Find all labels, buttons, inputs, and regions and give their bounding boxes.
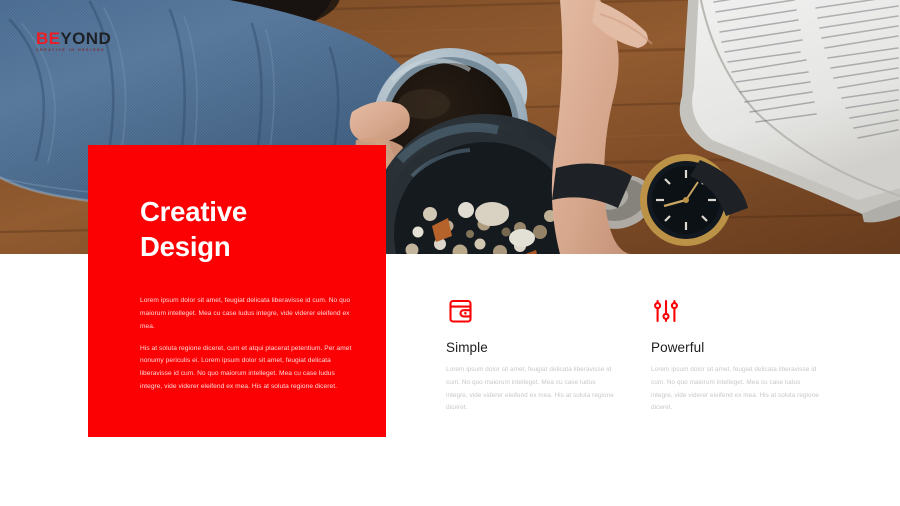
wallet-icon: [446, 296, 476, 326]
logo-text-yond: YOND: [60, 29, 111, 48]
feature-columns: Simple Lorem ipsum dolor sit amet, feugi…: [446, 296, 866, 415]
brand-logo[interactable]: BEYOND CREATIVE IN DESIGNS: [36, 30, 111, 53]
feature-body-powerful: Lorem ipsum dolor sit amet, feugiat deli…: [651, 364, 819, 415]
title-line-1: Creative: [140, 196, 247, 227]
feature-title-simple: Simple: [446, 340, 651, 355]
feature-title-powerful: Powerful: [651, 340, 856, 355]
title-line-2: Design: [140, 231, 231, 262]
feature-column-powerful: Powerful Lorem ipsum dolor sit amet, feu…: [651, 296, 856, 415]
logo-tagline: CREATIVE IN DESIGNS: [36, 49, 111, 53]
logo-wordmark: BEYOND: [36, 30, 111, 47]
feature-body-simple: Lorem ipsum dolor sit amet, feugiat deli…: [446, 364, 614, 415]
red-content-panel: Creative Design Lorem ipsum dolor sit am…: [88, 145, 386, 437]
feature-column-simple: Simple Lorem ipsum dolor sit amet, feugi…: [446, 296, 651, 415]
red-panel-paragraph-1: Lorem ipsum dolor sit amet, feugiat deli…: [140, 295, 358, 334]
logo-text-be: BE: [36, 29, 60, 48]
page-title: Creative Design: [140, 194, 370, 264]
red-panel-body-text: Lorem ipsum dolor sit amet, feugiat deli…: [140, 295, 358, 394]
presentation-slide: BEYOND CREATIVE IN DESIGNS Creative Desi…: [0, 0, 900, 506]
sliders-icon: [651, 296, 681, 326]
red-panel-paragraph-2: His at soluta regione diceret, cum et at…: [140, 343, 358, 394]
